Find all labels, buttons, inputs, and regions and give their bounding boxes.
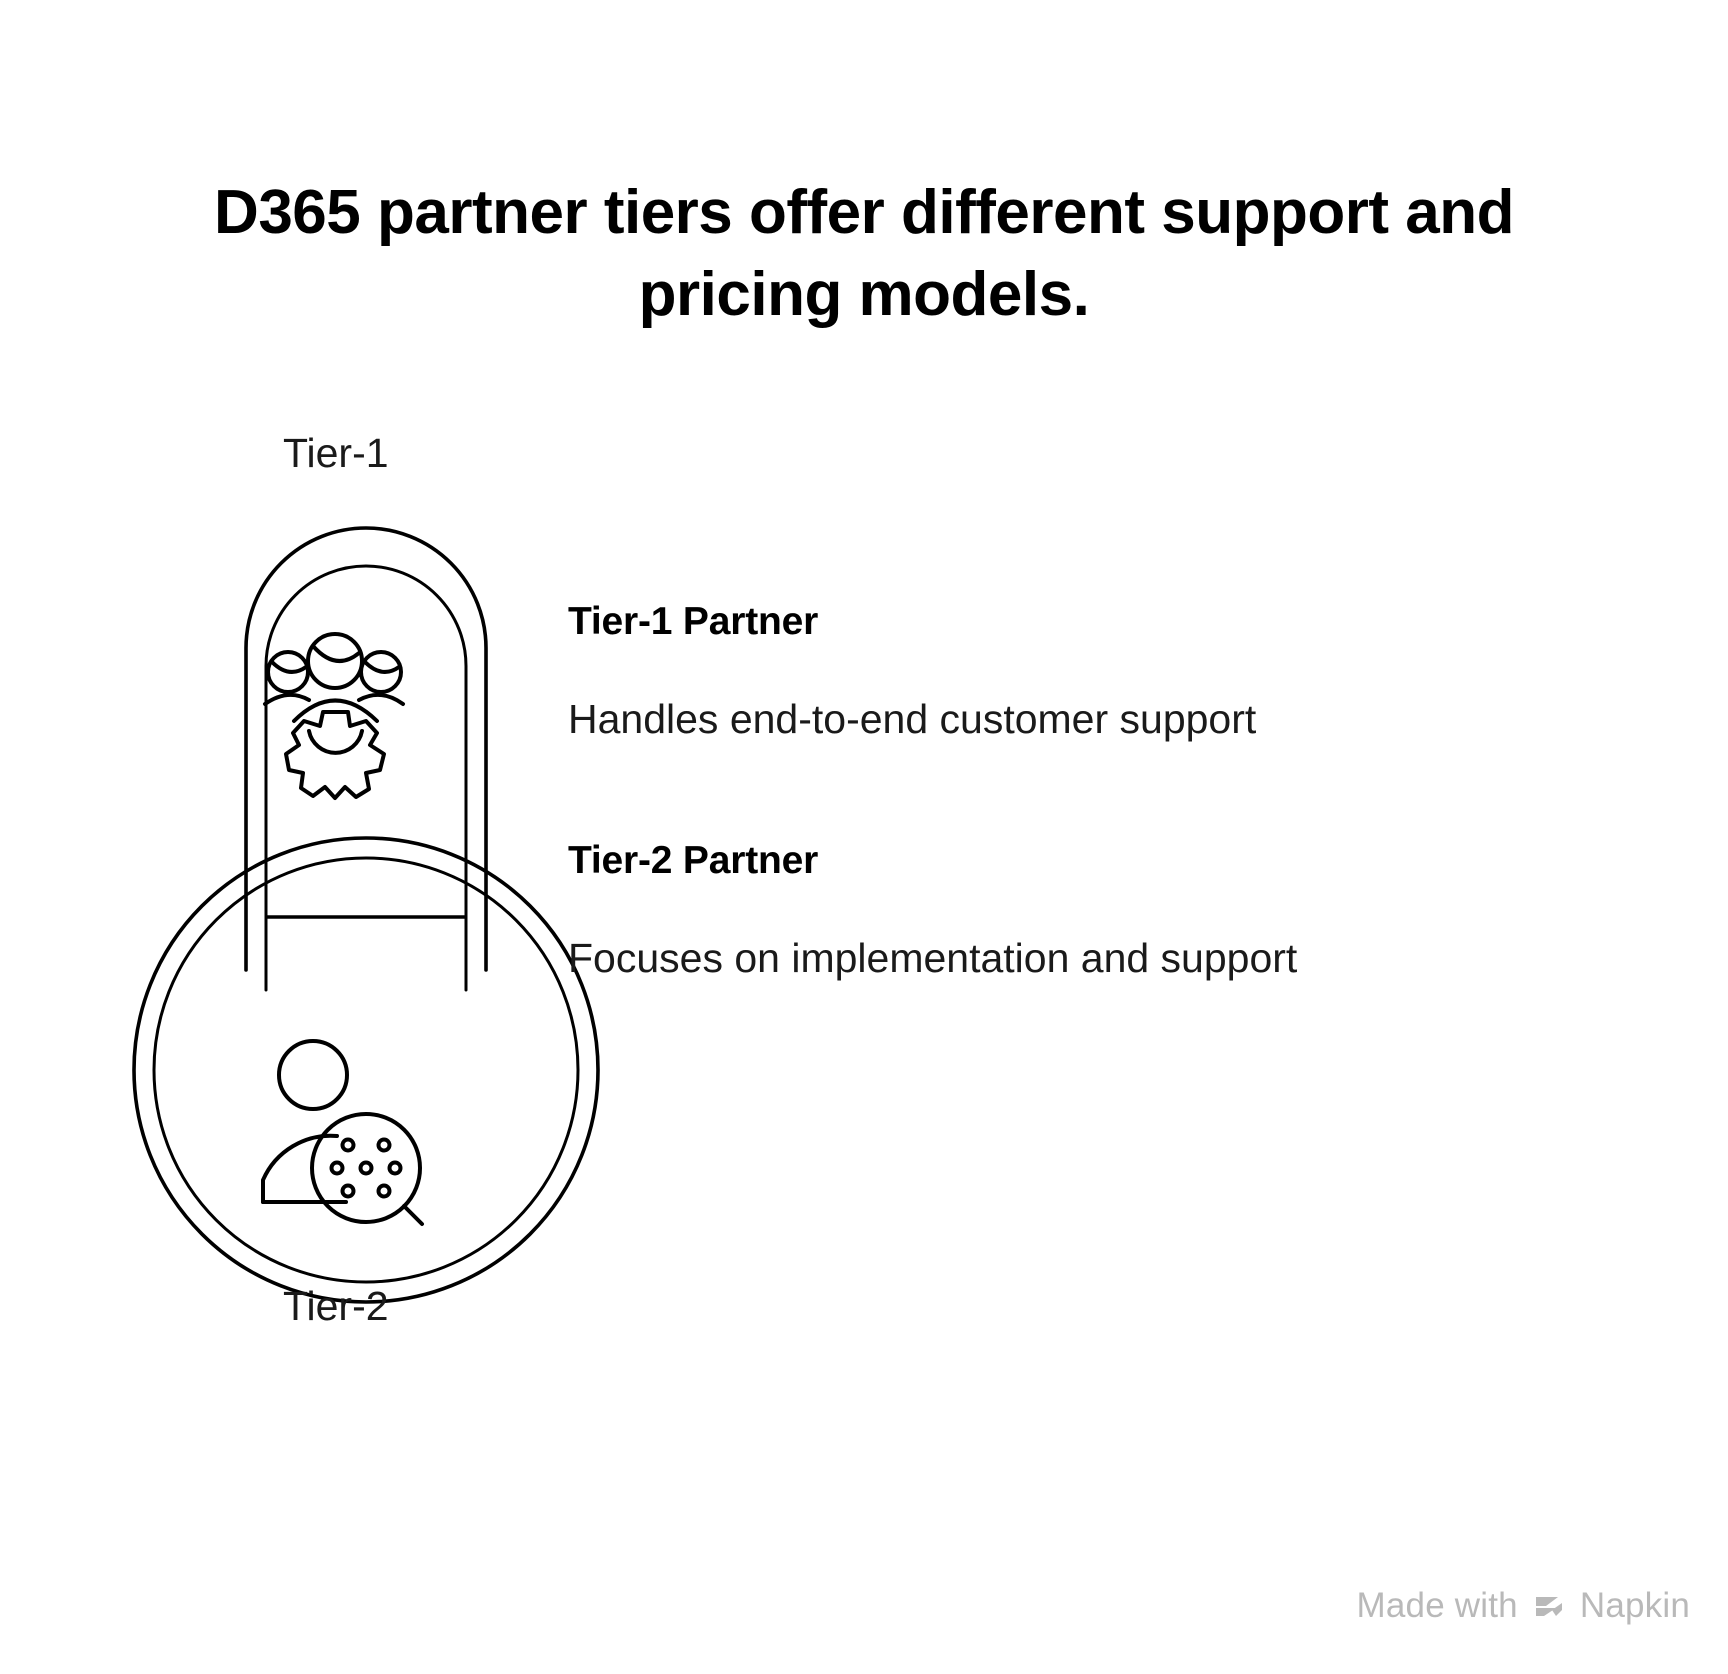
tier-1-label: Tier-1	[283, 430, 389, 477]
team-gear-icon	[265, 634, 403, 798]
callout-tier-2-description: Focuses on implementation and support	[568, 935, 1608, 982]
callout-tier-2: Tier-2 Partner Focuses on implementation…	[568, 839, 1608, 982]
napkin-watermark: Made with Napkin	[1357, 1586, 1690, 1626]
padlock-inner-body	[154, 858, 578, 1282]
callout-tier-2-title: Tier-2 Partner	[568, 839, 1608, 883]
user-research-magnifier-icon	[263, 1041, 422, 1224]
callout-tier-1-description: Handles end-to-end customer support	[568, 696, 1608, 743]
napkin-chevrons-icon	[1532, 1591, 1566, 1625]
callout-tier-1: Tier-1 Partner Handles end-to-end custom…	[568, 600, 1608, 743]
callouts-list: Tier-1 Partner Handles end-to-end custom…	[568, 600, 1608, 982]
callout-tier-1-title: Tier-1 Partner	[568, 600, 1608, 644]
watermark-brand: Napkin	[1580, 1586, 1690, 1626]
tier-2-label: Tier-2	[283, 1283, 389, 1330]
padlock-outer-body	[134, 838, 598, 1302]
watermark-prefix: Made with	[1357, 1586, 1518, 1626]
padlock-outer-outline	[246, 528, 486, 970]
